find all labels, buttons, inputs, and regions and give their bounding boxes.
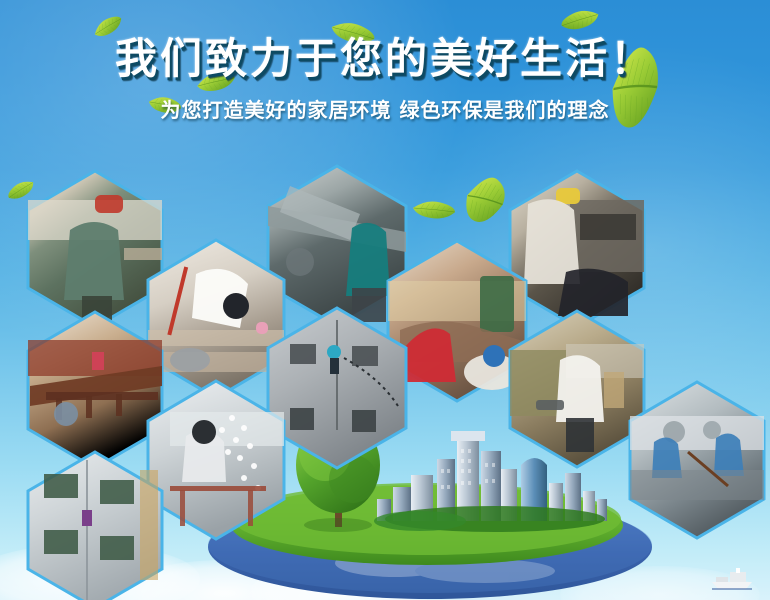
banner-headline: 我们致力于您的美好生活！ [115, 34, 655, 84]
banner-stage: 我们致力于您的美好生活！ 为您打造美好的家居环境 绿色环保是我们的理念 [0, 0, 770, 600]
hex-ceiling-crystal [148, 381, 284, 539]
hex-duct-cleaning [268, 166, 406, 326]
subline-container: 为您打造美好的家居环境 绿色环保是我们的理念 [0, 96, 770, 124]
hexagon-grid-svg [0, 0, 770, 600]
hex-building-rappel [28, 452, 162, 600]
hex-stair-mopping [148, 240, 284, 398]
hex-facade-rope [268, 308, 406, 468]
hexagon-photo-grid [0, 0, 770, 600]
hex-rooftop-ac [630, 382, 764, 538]
headline-container: 我们致力于您的美好生活！ [0, 34, 770, 84]
hex-carpet-machine [388, 241, 526, 401]
hex-lobby-floor [510, 311, 644, 467]
small-boat [706, 566, 758, 592]
hex-kitchen-hood [510, 171, 644, 327]
hex-handrail-painting [28, 312, 162, 468]
hex-worker-demolition [28, 171, 162, 327]
banner-subline: 为您打造美好的家居环境 绿色环保是我们的理念 [161, 96, 610, 124]
boat-svg [706, 566, 758, 592]
